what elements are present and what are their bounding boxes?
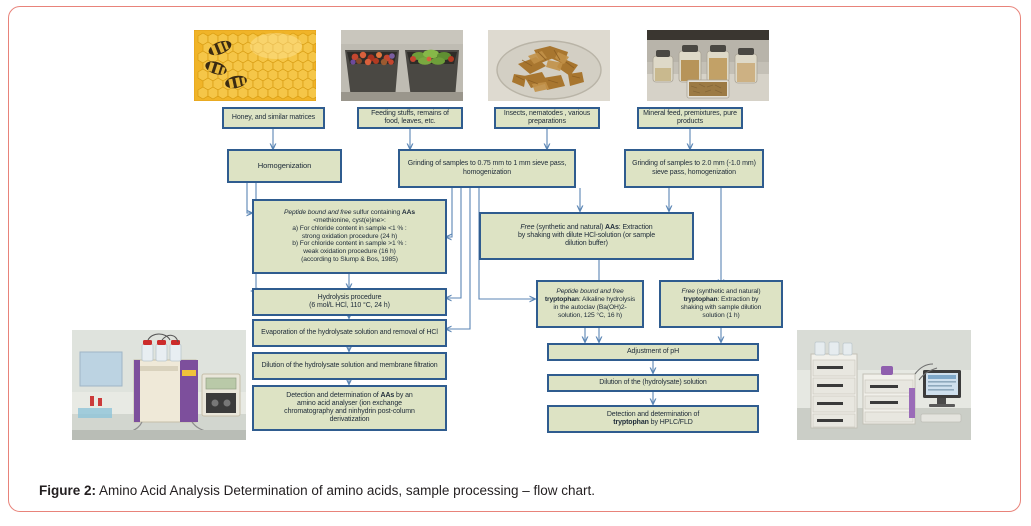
node-line-emph: Peptide bound and free xyxy=(556,288,623,295)
node-line: dilution buffer) xyxy=(565,240,608,248)
node-line: solution (1 h) xyxy=(702,312,739,320)
node-line: Free (synthetic and natural) AAs: Extrac… xyxy=(520,224,652,232)
node-line: tryptophan by HPLC/FLD xyxy=(613,419,693,427)
node-dilution-membrane-filtration[interactable]: Dilution of the hydrolysate solution and… xyxy=(252,352,447,380)
node-line: b) For chloride content in sample >1 % : xyxy=(292,240,406,248)
node-line-text: sulfur containing xyxy=(351,209,402,216)
node-label: Dilution of the (hydrolysate) solution xyxy=(553,379,753,387)
node-line-emph: Free xyxy=(520,224,534,231)
node-label: Adjustment of pH xyxy=(553,348,753,356)
figure-caption: Figure 2: Amino Acid Analysis Determinat… xyxy=(39,483,989,498)
node-adjustment-of-ph[interactable]: Adjustment of pH xyxy=(547,343,759,361)
node-line-strong: tryptophan xyxy=(613,419,649,426)
node-line-text: by HPLC/FLD xyxy=(649,419,693,426)
node-dilution-hydrolysate-solution[interactable]: Dilution of the (hydrolysate) solution xyxy=(547,374,759,392)
node-line-emph: Peptide bound and free xyxy=(284,209,351,216)
node-line-strong: tryptophan xyxy=(545,296,579,303)
node-line-text: Detection and determination of xyxy=(286,392,380,399)
node-source-honey[interactable]: Honey, and similar matrices xyxy=(222,107,325,129)
node-homogenization[interactable]: Homogenization xyxy=(227,149,342,183)
node-line-text: (synthetic and natural) xyxy=(695,288,761,295)
node-line: tryptophan: Extraction by xyxy=(684,296,759,304)
node-detection-determination-aas[interactable]: Detection and determination of AAs by an… xyxy=(252,385,447,431)
node-line: weak oxidation procedure (16 h) xyxy=(303,248,395,256)
node-grinding-20mm[interactable]: Grinding of samples to 2.0 mm (-1.0 mm) … xyxy=(624,149,764,188)
node-line: Hydrolysis procedure xyxy=(318,294,382,302)
node-line-strong: tryptophan xyxy=(684,296,718,303)
node-line: Peptide bound and free sulfur containing… xyxy=(284,209,415,217)
node-line: in the autoclav (Ba(OH)2- xyxy=(553,304,626,312)
node-line: by shaking with dilute HCl-solution (or … xyxy=(518,232,655,240)
node-line-text: : Extraction xyxy=(619,224,653,231)
node-line: chromatography and ninhydrin post-column xyxy=(284,408,415,416)
node-label: Feeding stuffs, remains of food, leaves,… xyxy=(363,110,457,127)
node-line-strong: AAs xyxy=(380,392,394,399)
node-label: Grinding of samples to 2.0 mm (-1.0 mm) … xyxy=(630,160,758,177)
node-label: Homogenization xyxy=(233,162,336,171)
node-source-feeding-stuffs[interactable]: Feeding stuffs, remains of food, leaves,… xyxy=(357,107,463,129)
food-waste-bins-photo xyxy=(341,30,463,101)
node-line: a) For chloride content in sample <1 % : xyxy=(292,225,406,233)
node-line: Detection and determination of xyxy=(607,411,699,419)
node-line-text: : Extraction by xyxy=(718,296,759,303)
node-line: amino acid analyser (ion exchange xyxy=(297,400,402,408)
figure-caption-text: Amino Acid Analysis Determination of ami… xyxy=(96,483,595,498)
node-label: Honey, and similar matrices xyxy=(228,114,319,122)
node-line: (6 mol/L HCl, 110 °C, 24 h) xyxy=(309,302,390,310)
node-line-emph: Free xyxy=(682,288,695,295)
honeycomb-with-bees-photo xyxy=(194,30,316,101)
node-source-mineral-feed[interactable]: Mineral feed, premixtures, pure products xyxy=(637,107,743,129)
node-line-strong: AAs xyxy=(605,224,619,231)
flow-chart: Honey, and similar matrices Feeding stuf… xyxy=(9,7,1022,447)
node-label: Mineral feed, premixtures, pure products xyxy=(643,110,737,127)
node-line: (according to Slump & Bos, 1985) xyxy=(301,256,398,264)
node-label: Evaporation of the hydrolysate solution … xyxy=(258,329,441,337)
node-hydrolysis-procedure[interactable]: Hydrolysis procedure (6 mol/L HCl, 110 °… xyxy=(252,288,447,316)
amino-acid-analyser-photo xyxy=(72,330,246,440)
node-line: derivatization xyxy=(330,416,370,424)
node-free-aas-extraction[interactable]: Free (synthetic and natural) AAs: Extrac… xyxy=(479,212,694,260)
node-line: Peptide bound and free xyxy=(556,288,623,296)
figure-caption-label: Figure 2: xyxy=(39,483,96,498)
node-label: Insects, nematodes , various preparation… xyxy=(500,110,594,127)
node-label: Grinding of samples to 0.75 mm to 1 mm s… xyxy=(404,160,570,177)
node-source-insects[interactable]: Insects, nematodes , various preparation… xyxy=(494,107,600,129)
node-evaporation-removal-hcl[interactable]: Evaporation of the hydrolysate solution … xyxy=(252,319,447,347)
node-line-strong: AAs xyxy=(402,209,415,216)
node-line: shaking with sample dilution xyxy=(681,304,761,312)
node-line: <methionine, cyst(e)ine>: xyxy=(313,217,386,225)
node-line-text: by an xyxy=(394,392,412,399)
node-label: Dilution of the hydrolysate solution and… xyxy=(258,362,441,370)
node-sulfur-containing-aas[interactable]: Peptide bound and free sulfur containing… xyxy=(252,199,447,274)
node-line: Free (synthetic and natural) xyxy=(682,288,761,296)
node-line: Detection and determination of AAs by an xyxy=(286,392,412,400)
node-line: strong oxidation procedure (24 h) xyxy=(302,233,397,241)
node-line: tryptophan: Alkaline hydrolysis xyxy=(545,296,635,304)
node-line: solution, 125 °C, 16 h) xyxy=(558,312,622,320)
node-peptide-bound-free-tryptophan[interactable]: Peptide bound and free tryptophan: Alkal… xyxy=(536,280,644,328)
node-detection-determination-tryptophan[interactable]: Detection and determination of tryptopha… xyxy=(547,405,759,433)
node-grinding-075mm[interactable]: Grinding of samples to 0.75 mm to 1 mm s… xyxy=(398,149,576,188)
node-line-text: : Alkaline hydrolysis xyxy=(579,296,635,303)
node-free-tryptophan-extraction[interactable]: Free (synthetic and natural) tryptophan:… xyxy=(659,280,783,328)
mineral-feed-jars-photo xyxy=(647,30,769,101)
figure-frame: Honey, and similar matrices Feeding stuf… xyxy=(8,6,1021,512)
hplc-fld-system-photo xyxy=(797,330,971,440)
dried-insects-photo xyxy=(488,30,610,101)
node-line-text: (synthetic and natural) xyxy=(534,224,605,231)
